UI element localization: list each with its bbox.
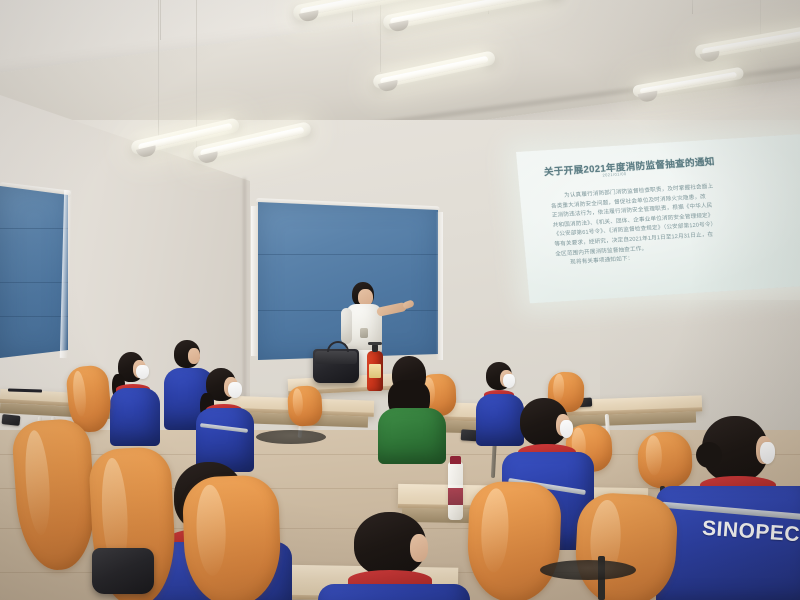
chair-wheel-base (256, 430, 326, 444)
classroom-training-photo: 关于开展2021年度消防监督抽查的通知 2021/01/00 为认真履行消防部门… (0, 0, 800, 600)
attendee-uniform (318, 584, 470, 600)
projected-slide: 关于开展2021年度消防监督抽查的通知 2021/01/00 为认真履行消防部门… (516, 134, 800, 304)
attendee-front-center (300, 512, 480, 600)
light-wire (158, 0, 159, 142)
face-mask (228, 382, 242, 398)
window-light-gap-back-right (436, 212, 443, 360)
bag-on-floor (92, 548, 154, 594)
face-mask (560, 420, 573, 438)
presenter-badge (360, 328, 368, 338)
chair-empty-back-left[interactable] (287, 385, 323, 427)
chair-foreground-mid[interactable] (466, 480, 562, 600)
light-wire (692, 0, 693, 14)
slide-body: 为认真履行消防部门消防监督检查职责，及时掌握社会面上 各类重大消防安全问题，督促… (550, 179, 789, 270)
attendee-green-top (378, 408, 446, 464)
light-wire (160, 0, 161, 40)
presenter-arm-left (341, 308, 352, 344)
attendee-face (410, 534, 428, 562)
blind-left-wall[interactable] (0, 186, 68, 358)
attendee-green-shirt (376, 356, 450, 460)
attendee-face (188, 348, 200, 364)
window-light-gap-back (251, 206, 258, 356)
attendee-uniform (110, 388, 160, 446)
face-mask (760, 442, 775, 464)
slide-date: 2021/01/00 (602, 171, 626, 177)
slide-title: 关于开展2021年度消防监督抽查的通知 (543, 149, 794, 179)
presenter-hand (402, 299, 415, 309)
chair-foreground-left-1[interactable] (11, 417, 99, 572)
light-wire (380, 0, 381, 72)
face-mask (136, 365, 149, 379)
face-mask (503, 374, 515, 388)
attendee-back-center (190, 368, 262, 468)
chair-wheel-base (540, 560, 636, 580)
chair-foreground-center[interactable] (182, 474, 282, 600)
fire-extinguisher-neck (372, 344, 378, 352)
fire-extinguisher-handle (368, 342, 382, 345)
water-bottle-cap (450, 456, 461, 464)
hair-bun (696, 442, 722, 468)
laptop-bag-flap (315, 351, 357, 364)
chair-foreground-right[interactable] (573, 491, 679, 600)
water-bottle-label (448, 488, 463, 505)
